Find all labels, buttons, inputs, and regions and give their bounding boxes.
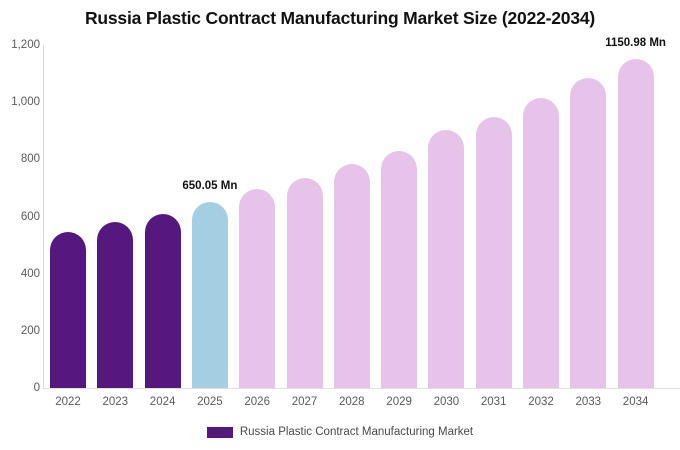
x-axis-tick-2027: 2027	[282, 396, 328, 408]
y-axis-tick-200: 200	[4, 325, 40, 337]
bar-2025[interactable]	[192, 202, 228, 388]
legend-swatch-icon	[207, 427, 233, 438]
y-axis-tick-800: 800	[4, 153, 40, 165]
y-axis-tick-600: 600	[4, 211, 40, 223]
y-axis-tick-400: 400	[4, 268, 40, 280]
x-axis-tick-2022: 2022	[45, 396, 91, 408]
bar-2023[interactable]	[97, 222, 133, 388]
bar-2033[interactable]	[570, 78, 606, 388]
bar-2026[interactable]	[239, 189, 275, 388]
bar-2032[interactable]	[523, 98, 559, 388]
x-axis-tick-2024: 2024	[140, 396, 186, 408]
chart-container: Russia Plastic Contract Manufacturing Ma…	[0, 0, 680, 450]
x-axis-tick-2029: 2029	[376, 396, 422, 408]
x-axis-tick-2031: 2031	[471, 396, 517, 408]
x-axis-tick-2023: 2023	[92, 396, 138, 408]
x-axis-tick-2025: 2025	[187, 396, 233, 408]
bar-2027[interactable]	[287, 178, 323, 388]
bar-2024[interactable]	[145, 214, 181, 388]
y-axis-tick-1000: 1,000	[4, 96, 40, 108]
x-axis-tick-2032: 2032	[518, 396, 564, 408]
bar-2034[interactable]	[618, 59, 654, 388]
chart-legend: Russia Plastic Contract Manufacturing Ma…	[0, 426, 680, 438]
x-axis-tick-2034: 2034	[613, 396, 659, 408]
y-axis-tick-0: 0	[4, 382, 40, 394]
y-axis-line	[43, 45, 44, 388]
data-label-2025: 650.05 Mn	[150, 180, 270, 192]
y-axis-tick-1200: 1,200	[4, 39, 40, 51]
bar-2030[interactable]	[428, 130, 464, 388]
chart-title: Russia Plastic Contract Manufacturing Ma…	[0, 8, 680, 29]
bar-2029[interactable]	[381, 151, 417, 388]
x-axis-tick-2033: 2033	[565, 396, 611, 408]
x-axis-tick-2026: 2026	[234, 396, 280, 408]
bar-2022[interactable]	[50, 232, 86, 388]
y-axis-tick-labels: 02004006008001,0001,200	[0, 0, 40, 450]
bar-2031[interactable]	[476, 117, 512, 388]
bar-2028[interactable]	[334, 164, 370, 388]
x-axis-tick-2028: 2028	[329, 396, 375, 408]
x-axis-tick-2030: 2030	[423, 396, 469, 408]
legend-label: Russia Plastic Contract Manufacturing Ma…	[240, 426, 473, 438]
x-axis-line	[43, 388, 680, 389]
data-label-2034: 1150.98 Mn	[576, 37, 680, 49]
